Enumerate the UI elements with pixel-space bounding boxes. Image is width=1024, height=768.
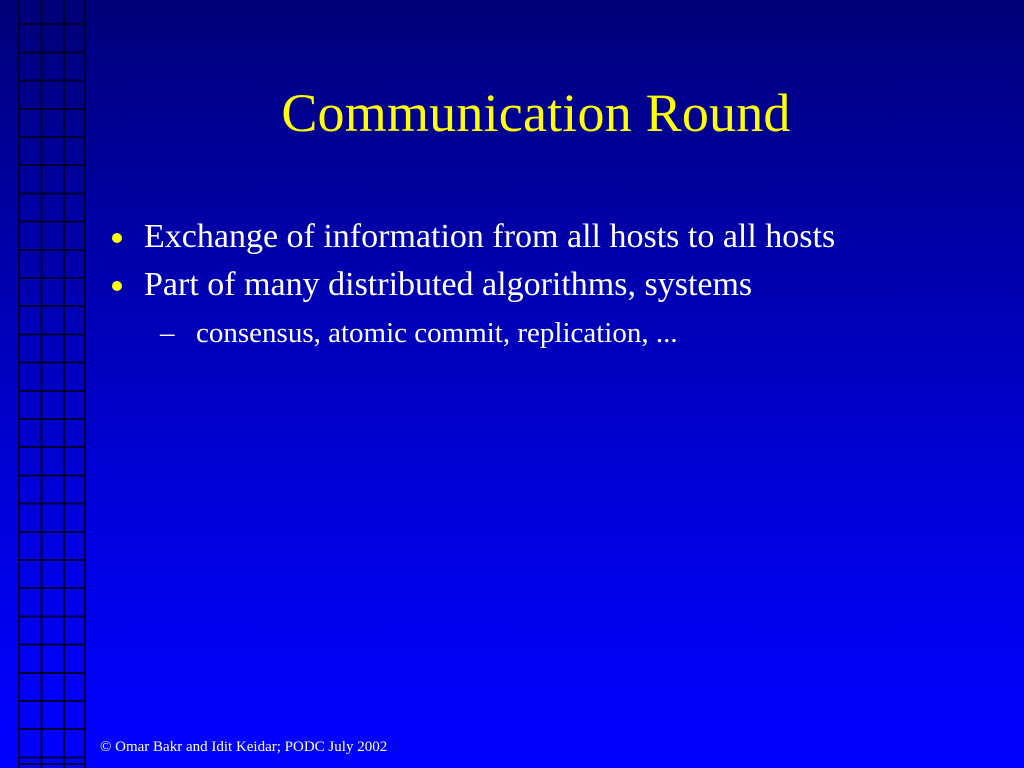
slide-body: Exchange of information from all hosts t… <box>104 214 984 354</box>
bullet-item-label: Exchange of information from all hosts t… <box>144 214 984 260</box>
bullet-dot-icon <box>112 233 122 243</box>
slide-footer-credit: © Omar Bakr and Idit Keidar; PODC July 2… <box>100 738 387 756</box>
bullet-item: Part of many distributed algorithms, sys… <box>104 262 984 308</box>
en-dash-icon: – <box>160 312 175 354</box>
sub-bullet-item-label: consensus, atomic commit, replication, .… <box>196 317 678 349</box>
decorative-grid-strip <box>18 0 86 768</box>
sub-bullet-item: – consensus, atomic commit, replication,… <box>104 312 984 354</box>
bullet-dot-icon <box>112 281 122 291</box>
slide-title: Communication Round <box>96 82 976 144</box>
grid-right-edge <box>84 0 86 768</box>
bullet-item-label: Part of many distributed algorithms, sys… <box>144 262 984 308</box>
bullet-item: Exchange of information from all hosts t… <box>104 214 984 260</box>
presentation-slide: Communication Round Exchange of informat… <box>0 0 1024 768</box>
